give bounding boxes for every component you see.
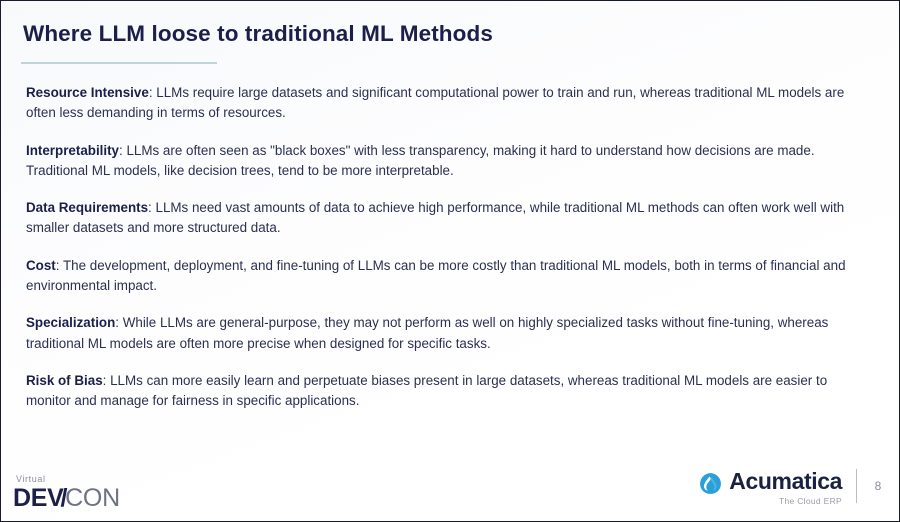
body-paragraph-list: Resource Intensive: LLMs require large d… bbox=[26, 83, 872, 412]
paragraph-specialization: Specialization: While LLMs are general-p… bbox=[26, 313, 872, 354]
paragraph-text: LLMs can more easily learn and perpetuat… bbox=[26, 373, 827, 408]
paragraph-resource-intensive: Resource Intensive: LLMs require large d… bbox=[26, 83, 872, 124]
acumatica-mark-icon bbox=[699, 472, 722, 495]
devcon-logo: Virtual DEV/CON bbox=[13, 475, 120, 511]
paragraph-term: Cost bbox=[26, 258, 56, 273]
devcon-dev-text: DEV bbox=[13, 484, 64, 512]
paragraph-data-requirements: Data Requirements: LLMs need vast amount… bbox=[26, 198, 872, 239]
paragraph-risk-of-bias: Risk of Bias: LLMs can more easily learn… bbox=[26, 371, 872, 412]
title-underline-rule bbox=[21, 62, 217, 64]
devcon-wordmark: DEV/CON bbox=[13, 486, 120, 511]
paragraph-cost: Cost: The development, deployment, and f… bbox=[26, 256, 872, 297]
paragraph-interpretability: Interpretability: LLMs are often seen as… bbox=[26, 141, 872, 182]
slide: Where LLM loose to traditional ML Method… bbox=[0, 0, 900, 522]
acumatica-textblock: Acumatica The Cloud ERP bbox=[729, 470, 842, 506]
paragraph-separator: : bbox=[148, 200, 155, 215]
paragraph-separator: : bbox=[103, 373, 110, 388]
footer-brand-area: Acumatica The Cloud ERP 8 bbox=[699, 469, 885, 507]
page-title: Where LLM loose to traditional ML Method… bbox=[23, 21, 493, 47]
paragraph-term: Interpretability bbox=[26, 143, 119, 158]
paragraph-term: Data Requirements bbox=[26, 200, 148, 215]
paragraph-separator: : bbox=[56, 258, 63, 273]
devcon-virtual-label: Virtual bbox=[16, 475, 120, 484]
page-number: 8 bbox=[871, 479, 885, 493]
paragraph-term: Specialization bbox=[26, 315, 115, 330]
acumatica-wordmark: Acumatica bbox=[729, 470, 842, 493]
acumatica-logo: Acumatica The Cloud ERP bbox=[699, 470, 842, 506]
acumatica-tagline: The Cloud ERP bbox=[779, 497, 842, 506]
paragraph-term: Resource Intensive bbox=[26, 85, 149, 100]
devcon-con-text: CON bbox=[65, 484, 120, 512]
paragraph-term: Risk of Bias bbox=[26, 373, 103, 388]
paragraph-text: The development, deployment, and fine-tu… bbox=[26, 258, 846, 293]
footer-vertical-divider bbox=[856, 469, 857, 503]
paragraph-separator: : bbox=[115, 315, 122, 330]
paragraph-text: LLMs are often seen as "black boxes" wit… bbox=[26, 143, 815, 178]
slide-content: Where LLM loose to traditional ML Method… bbox=[1, 1, 899, 521]
paragraph-text: While LLMs are general-purpose, they may… bbox=[26, 315, 828, 350]
